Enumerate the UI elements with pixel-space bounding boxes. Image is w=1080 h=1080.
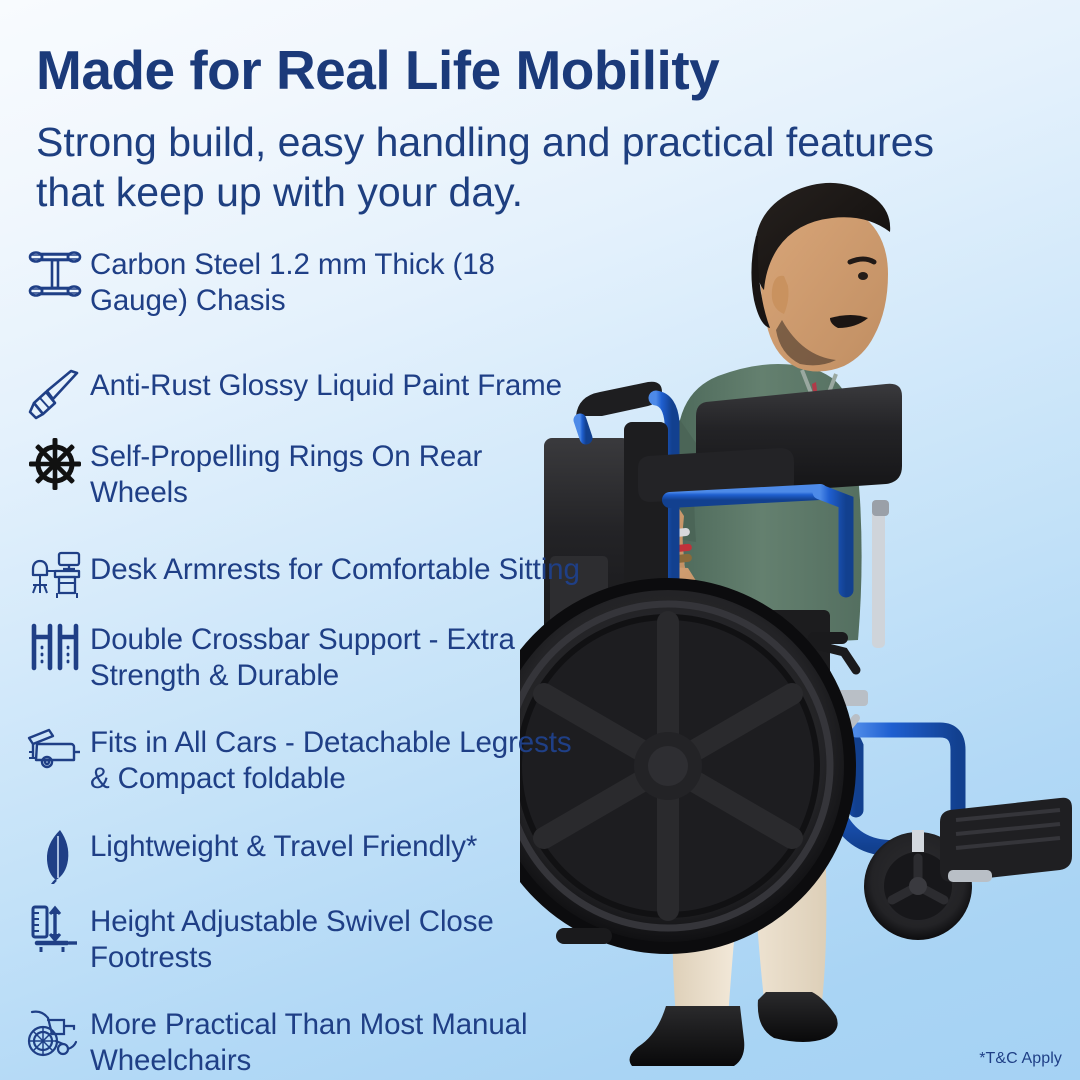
feature-label: Anti-Rust Glossy Liquid Paint Frame: [90, 367, 562, 404]
feature-label: More Practical Than Most Manual Wheelcha…: [90, 1006, 584, 1079]
shoe-left: [630, 1006, 745, 1066]
frame-top-rail: [670, 492, 820, 500]
feature-item: Lightweight & Travel Friendly*: [24, 828, 477, 884]
wheelchair-icon: [24, 1006, 86, 1058]
feature-item: Anti-Rust Glossy Liquid Paint Frame: [24, 367, 562, 423]
chassis-frame-icon: [24, 246, 86, 302]
feature-label: Desk Armrests for Comfortable Sitting: [90, 551, 580, 588]
feature-item: Height Adjustable Swivel Close Footrests: [24, 903, 584, 976]
feature-label: Fits in All Cars - Detachable Legrests &…: [90, 724, 584, 797]
feature-label: Double Crossbar Support - Extra Strength…: [90, 621, 584, 694]
height-adjust-icon: [24, 903, 86, 955]
paint-brush-icon: [24, 367, 86, 423]
car-loading-icon: [24, 724, 86, 772]
ship-wheel-icon: [24, 438, 86, 490]
terms-note: *T&C Apply: [979, 1050, 1062, 1068]
crossbar-support-icon: [24, 621, 86, 673]
feature-item: Carbon Steel 1.2 mm Thick (18 Gauge) Cha…: [24, 246, 584, 319]
feather-icon: [24, 828, 86, 884]
page-subtitle: Strong build, easy handling and practica…: [36, 117, 996, 217]
product-photo: [520, 170, 1080, 1080]
header-block: Made for Real Life Mobility Strong build…: [36, 42, 1026, 217]
chrome-extension: [872, 508, 885, 648]
feature-label: Self-Propelling Rings On Rear Wheels: [90, 438, 584, 511]
desk-chair-icon: [24, 551, 86, 599]
infographic-canvas: Made for Real Life Mobility Strong build…: [0, 0, 1080, 1080]
feature-item: Self-Propelling Rings On Rear Wheels: [24, 438, 584, 511]
eye: [858, 272, 868, 280]
feature-item: Desk Armrests for Comfortable Sitting: [24, 551, 580, 599]
feature-item: Double Crossbar Support - Extra Strength…: [24, 621, 584, 694]
feature-label: Height Adjustable Swivel Close Footrests: [90, 903, 584, 976]
shoe-right: [758, 992, 838, 1042]
page-title: Made for Real Life Mobility: [36, 42, 1026, 99]
feature-label: Carbon Steel 1.2 mm Thick (18 Gauge) Cha…: [90, 246, 584, 319]
feature-label: Lightweight & Travel Friendly*: [90, 828, 477, 865]
feature-item: Fits in All Cars - Detachable Legrests &…: [24, 724, 584, 797]
feature-item: More Practical Than Most Manual Wheelcha…: [24, 1006, 584, 1079]
